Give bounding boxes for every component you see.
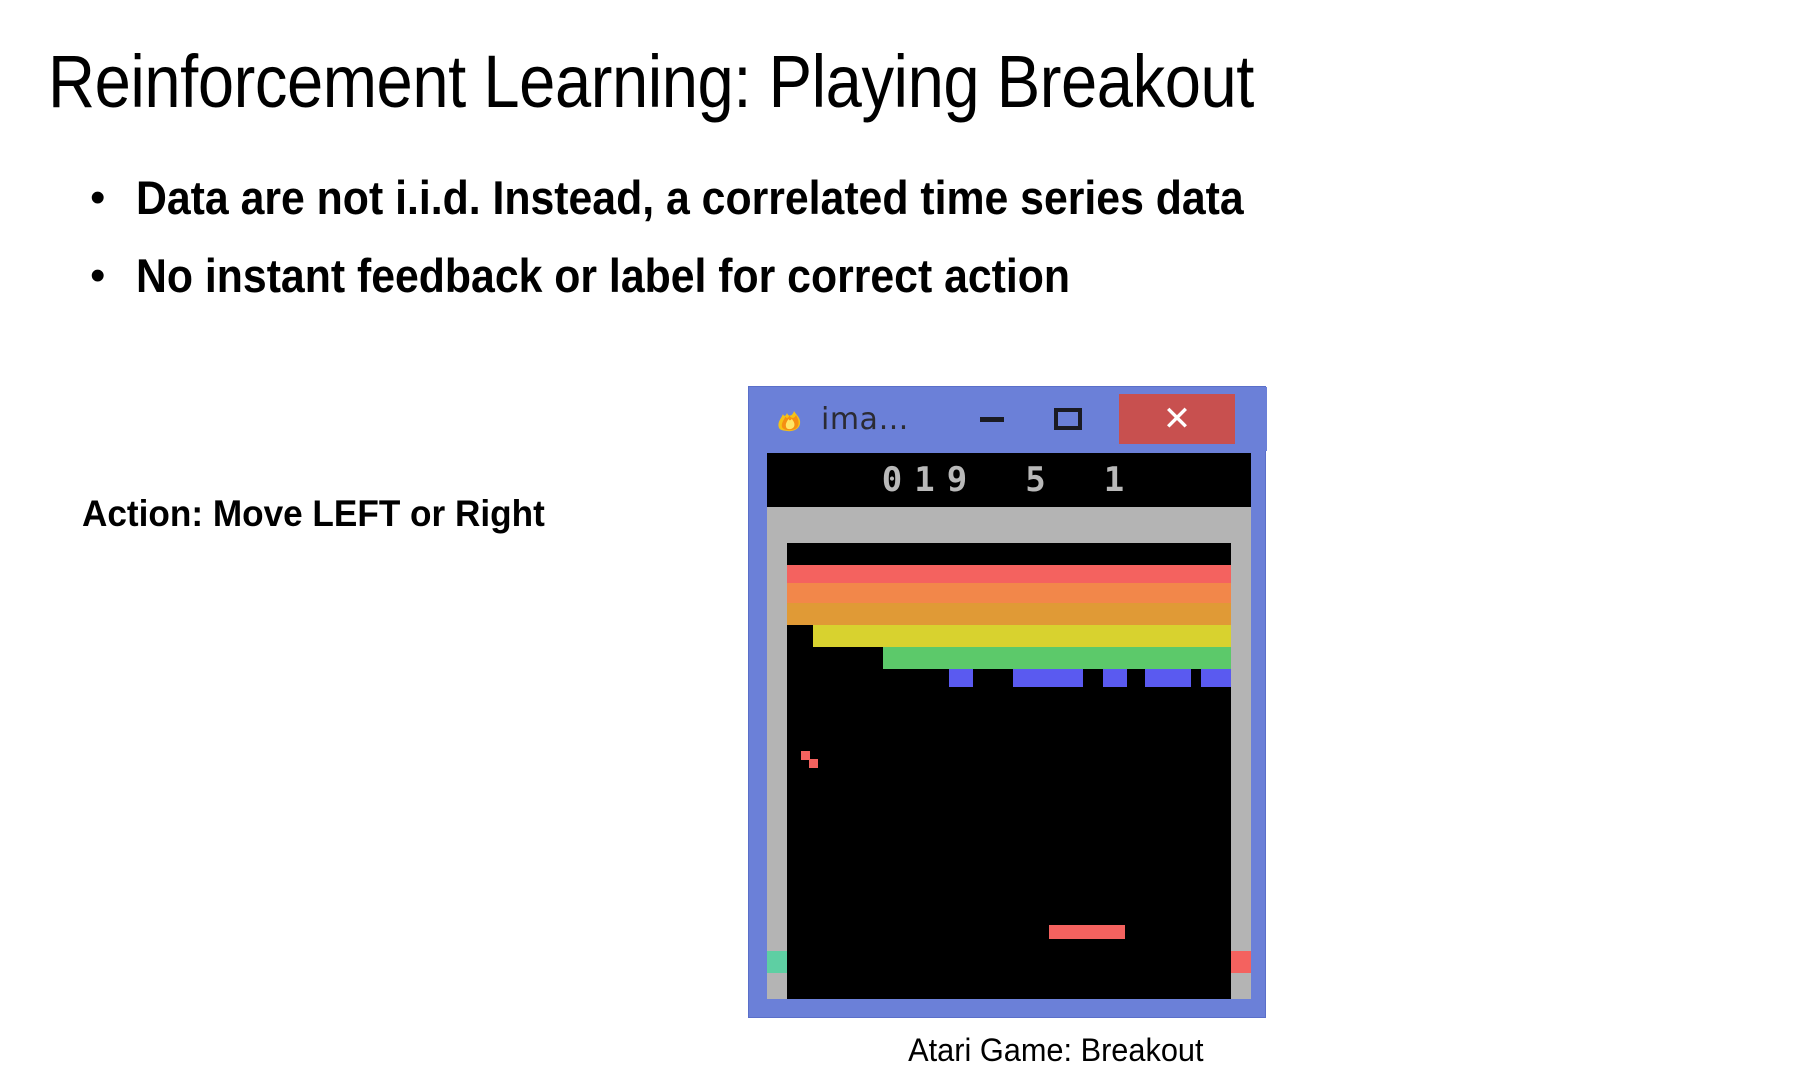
bullet-list: • Data are not i.i.d. Instead, a correla… (84, 162, 1584, 318)
paddle (1049, 925, 1125, 939)
brick-row-green (883, 647, 1231, 669)
figure-caption: Atari Game: Breakout (0, 1030, 1802, 1070)
minimize-button[interactable] (961, 394, 1023, 444)
brick-row-blue (1103, 669, 1127, 687)
action-annotation: Action: Move LEFT or Right (82, 490, 545, 538)
right-wall-tip (1231, 951, 1251, 973)
close-icon: ✕ (1163, 402, 1192, 436)
atari-emulator-window: ima… ✕ 019 5 1 (748, 386, 1266, 1018)
score-strip: 019 5 1 (767, 453, 1251, 507)
score-value: 019 (882, 460, 979, 500)
bullet-marker-icon: • (84, 162, 136, 234)
playfield (787, 543, 1231, 999)
bullet-text: Data are not i.i.d. Instead, a correlate… (136, 162, 1244, 234)
list-item: • Data are not i.i.d. Instead, a correla… (84, 162, 1584, 234)
brick-row-blue (1145, 669, 1191, 687)
left-wall-tip (767, 951, 787, 973)
ball (809, 759, 818, 768)
window-title-bar[interactable]: ima… ✕ (749, 387, 1267, 451)
maximize-button[interactable] (1037, 394, 1099, 444)
figure-caption-label: Atari Game: Breakout (908, 1030, 1203, 1070)
brick-row-red (787, 565, 1231, 583)
minimize-icon (980, 417, 1004, 422)
brick-row-yellow (813, 625, 1231, 647)
bullet-marker-icon: • (84, 240, 136, 312)
top-wall (767, 507, 1251, 543)
flame-app-icon (773, 402, 807, 436)
brick-row-blue (1201, 669, 1231, 687)
close-button[interactable]: ✕ (1119, 394, 1235, 444)
bullet-text: No instant feedback or label for correct… (136, 240, 1070, 312)
maximize-icon (1054, 408, 1082, 430)
brick-row-amber (787, 603, 1231, 625)
lives-value: 5 (1025, 460, 1057, 500)
left-wall (767, 543, 787, 999)
brick-row-orange (787, 583, 1231, 603)
game-canvas[interactable]: 019 5 1 (767, 453, 1251, 999)
window-title-label: ima… (821, 402, 909, 437)
page-title: Reinforcement Learning: Playing Breakout (48, 36, 1254, 128)
list-item: • No instant feedback or label for corre… (84, 240, 1584, 312)
right-wall (1231, 543, 1251, 999)
brick-row-blue (1013, 669, 1083, 687)
level-value: 1 (1104, 460, 1136, 500)
brick-row-blue (949, 669, 973, 687)
